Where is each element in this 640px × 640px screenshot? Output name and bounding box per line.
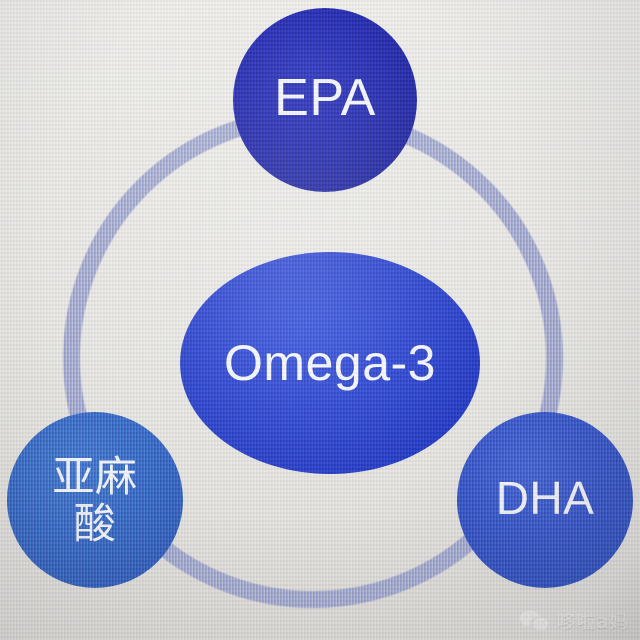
node-dha-label: DHA — [496, 474, 595, 526]
watermark-text: 哆啦a妈 — [556, 607, 629, 634]
watermark: 哆啦a妈 — [519, 607, 629, 634]
node-ala-label-line2: 酸 — [74, 499, 117, 548]
node-epa[interactable]: EPA — [233, 8, 417, 192]
diagram-canvas: EPA Omega-3 亚麻 酸 DHA 哆啦a妈 — [0, 0, 640, 640]
node-alpha-linolenic-acid-label: 亚麻 酸 — [52, 453, 137, 547]
node-epa-label: EPA — [274, 70, 376, 130]
wechat-icon — [519, 609, 549, 633]
node-ala-label-line1: 亚麻 — [52, 452, 137, 501]
node-dha[interactable]: DHA — [457, 412, 633, 588]
node-alpha-linolenic-acid[interactable]: 亚麻 酸 — [7, 412, 183, 588]
node-omega-3[interactable]: Omega-3 — [180, 252, 480, 474]
node-omega-3-label: Omega-3 — [224, 336, 436, 390]
